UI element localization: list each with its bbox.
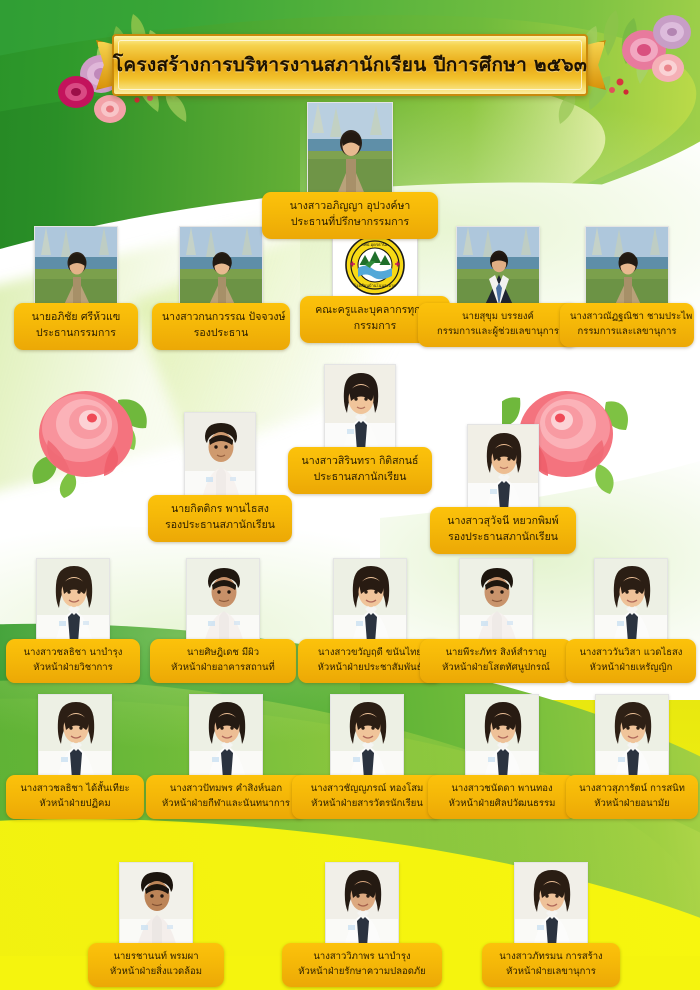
dept3-photo-3 xyxy=(514,862,588,946)
dept1-name-4: นายพีระภัทร สิงห์สำราญ xyxy=(430,646,562,660)
council-president-label: นางสาวสิรินทรา กิติสกนธ์ ประธานสภานักเรี… xyxy=(288,447,432,494)
dept1-role-3: หัวหน้าฝ่ายประชาสัมพันธ์ xyxy=(308,660,432,675)
council-vice-right-role: รองประธานสภานักเรียน xyxy=(440,529,566,546)
svg-text:โรงเรียนบ้านโนนสะอาด: โรงเรียนบ้านโนนสะอาด xyxy=(354,283,396,288)
node-dept2-3[interactable]: นางสาวชัญญูภรณ์ ทองโสม หัวหน้าฝ่ายสารวัต… xyxy=(292,694,442,819)
council-president-photo xyxy=(324,364,396,450)
committee-label-5: นางสาวณัฏฐณิชา ชามประไพ กรรมการและเลขานุ… xyxy=(560,303,694,347)
dept1-label-2: นายศิษฎิเดช มีผิว หัวหน้าฝ่ายอาคารสถานที… xyxy=(150,639,296,683)
dept3-label-3: นางสาวภัทรมน การสร้าง หัวหน้าฝ่ายเลขานุก… xyxy=(482,943,620,987)
committee-name-1: นายอภิชัย ศรีห้วแฃ xyxy=(24,310,128,325)
dept2-role-5: หัวหน้าฝ่ายอนามัย xyxy=(576,796,688,811)
dept1-photo-2 xyxy=(186,558,260,642)
committee-label-1: นายอภิชัย ศรีห้วแฃ ประธานกรรมการ xyxy=(14,303,138,350)
dept2-photo-2 xyxy=(189,694,263,778)
poster-title-banner: โครงสร้างการบริหารงานสภานักเรียน ปีการศึ… xyxy=(112,34,588,96)
node-committee-2[interactable]: นางสาวกนกวรรณ ปัจจวงษ์ รองประธาน xyxy=(152,226,290,350)
dept3-role-2: หัวหน้าฝ่ายรักษาความปลอดภัย xyxy=(292,964,432,979)
dept2-name-4: นางสาวชนัดดา พานทอง xyxy=(438,782,566,796)
dept1-role-1: หัวหน้าฝ่ายวิชาการ xyxy=(16,660,130,675)
committee-name-5: นางสาวณัฏฐณิชา ชามประไพ xyxy=(570,310,684,324)
dept2-name-2: นางสาวปัทมพร คำสิงห์นอก xyxy=(156,782,296,796)
council-vice-right-name: นางสาวสุวัจนี หยวกพิมพ์ xyxy=(440,514,566,529)
dept2-photo-1 xyxy=(38,694,112,778)
page-title: โครงสร้างการบริหารงานสภานักเรียน ปีการศึ… xyxy=(113,50,587,80)
dept1-name-1: นางสาวชลธิชา นาบำรุง xyxy=(16,646,130,660)
dept1-photo-1 xyxy=(36,558,110,642)
advisor-role: ประธานที่ปรึกษากรรมการ xyxy=(272,214,428,231)
dept3-name-3: นางสาวภัทรมน การสร้าง xyxy=(492,950,610,964)
dept3-name-1: นายรชานนท์ พรมผา xyxy=(98,950,214,964)
node-dept1-2[interactable]: นายศิษฎิเดช มีผิว หัวหน้าฝ่ายอาคารสถานที… xyxy=(150,558,296,683)
dept2-name-1: นางสาวชลธิชา ได้สั้นเทียะ xyxy=(16,782,134,796)
council-vice-left-role: รองประธานสภานักเรียน xyxy=(158,517,282,534)
node-committee-1[interactable]: นายอภิชัย ศรีห้วแฃ ประธานกรรมการ xyxy=(14,226,138,350)
council-vice-left-label: นายกิตติกร พานไธสง รองประธานสภานักเรียน xyxy=(148,495,292,542)
node-dept2-1[interactable]: นางสาวชลธิชา ได้สั้นเทียะ หัวหน้าฝ่ายปฏิ… xyxy=(6,694,144,819)
council-vice-left-name: นายกิตติกร พานไธสง xyxy=(158,502,282,517)
advisor-name: นางสาวอภิญญา อุปวงค์ษา xyxy=(272,199,428,214)
advisor-label: นางสาวอภิญญา อุปวงค์ษา ประธานที่ปรึกษากร… xyxy=(262,192,438,239)
dept2-role-2: หัวหน้าฝ่ายกีฬาและนันทนาการ xyxy=(156,796,296,811)
dept2-name-5: นางสาวสุภารัตน์ การสนิท xyxy=(576,782,688,796)
committee-photo-2 xyxy=(179,226,263,306)
dept1-photo-4 xyxy=(459,558,533,642)
dept1-photo-5 xyxy=(594,558,668,642)
dept1-photo-3 xyxy=(333,558,407,642)
committee-role-5: กรรมการและเลขานุการ xyxy=(570,324,684,339)
node-dept1-1[interactable]: นางสาวชลธิชา นาบำรุง หัวหน้าฝ่ายวิชาการ xyxy=(6,558,140,683)
advisor-photo xyxy=(307,102,393,196)
committee-role-4: กรรมการและผู้ช่วยเลขานุการ xyxy=(428,324,568,339)
dept3-label-2: นางสาววิภาพร นาบำรุง หัวหน้าฝ่ายรักษาควา… xyxy=(282,943,442,987)
dept3-name-2: นางสาววิภาพร นาบำรุง xyxy=(292,950,432,964)
organization-chart-poster: โครงสร้างการบริหารงานสภานักเรียน ปีการศึ… xyxy=(0,0,700,990)
committee-label-4: นายสุขุม บรรยงค์ กรรมการและผู้ช่วยเลขานุ… xyxy=(418,303,578,347)
dept1-label-5: นางสาววันวิสา แวดไธสง หัวหน้าฝ่ายเหรัญญิ… xyxy=(566,639,696,683)
dept2-photo-4 xyxy=(465,694,539,778)
node-dept3-3[interactable]: นางสาวภัทรมน การสร้าง หัวหน้าฝ่ายเลขานุก… xyxy=(482,862,620,987)
council-president-name: นางสาวสิรินทรา กิติสกนธ์ xyxy=(298,454,422,469)
council-vice-right-label: นางสาวสุวัจนี หยวกพิมพ์ รองประธานสภานักเ… xyxy=(430,507,576,554)
dept2-label-5: นางสาวสุภารัตน์ การสนิท หัวหน้าฝ่ายอนามั… xyxy=(566,775,698,819)
node-council-vice-right[interactable]: นางสาวสุวัจนี หยวกพิมพ์ รองประธานสภานักเ… xyxy=(430,424,576,554)
node-council-president[interactable]: นางสาวสิรินทรา กิติสกนธ์ ประธานสภานักเรี… xyxy=(288,364,432,494)
dept2-photo-5 xyxy=(595,694,669,778)
dept1-role-2: หัวหน้าฝ่ายอาคารสถานที่ xyxy=(160,660,286,675)
dept2-photo-3 xyxy=(330,694,404,778)
node-committee-4[interactable]: นายสุขุม บรรยงค์ กรรมการและผู้ช่วยเลขานุ… xyxy=(418,226,578,347)
node-dept3-2[interactable]: นางสาววิภาพร นาบำรุง หัวหน้าฝ่ายรักษาควา… xyxy=(282,862,442,987)
dept2-name-3: นางสาวชัญญูภรณ์ ทองโสม xyxy=(302,782,432,796)
committee-role-2: รองประธาน xyxy=(162,325,280,342)
dept2-label-3: นางสาวชัญญูภรณ์ ทองโสม หัวหน้าฝ่ายสารวัต… xyxy=(292,775,442,819)
node-dept3-1[interactable]: นายรชานนท์ พรมผา หัวหน้าฝ่ายสิ่งแวดล้อม xyxy=(88,862,224,987)
dept3-photo-1 xyxy=(119,862,193,946)
committee-photo-1 xyxy=(34,226,118,306)
council-president-role: ประธานสภานักเรียน xyxy=(298,469,422,486)
dept1-role-5: หัวหน้าฝ่ายเหรัญญิก xyxy=(576,660,686,675)
dept3-role-1: หัวหน้าฝ่ายสิ่งแวดล้อม xyxy=(98,964,214,979)
committee-photo-5 xyxy=(585,226,669,306)
dept3-role-3: หัวหน้าฝ่ายเลขานุการ xyxy=(492,964,610,979)
node-dept2-5[interactable]: นางสาวสุภารัตน์ การสนิท หัวหน้าฝ่ายอนามั… xyxy=(566,694,698,819)
dept2-label-2: นางสาวปัทมพร คำสิงห์นอก หัวหน้าฝ่ายกีฬาแ… xyxy=(146,775,306,819)
dept1-name-2: นายศิษฎิเดช มีผิว xyxy=(160,646,286,660)
dept2-role-4: หัวหน้าฝ่ายศิลปวัฒนธรรม xyxy=(438,796,566,811)
node-dept1-4[interactable]: นายพีระภัทร สิงห์สำราญ หัวหน้าฝ่ายโสตทัศ… xyxy=(420,558,572,683)
dept2-label-1: นางสาวชลธิชา ได้สั้นเทียะ หัวหน้าฝ่ายปฏิ… xyxy=(6,775,144,819)
committee-name-4: นายสุขุม บรรยงค์ xyxy=(428,310,568,324)
committee-photo-4 xyxy=(456,226,540,306)
committee-label-2: นางสาวกนกวรรณ ปัจจวงษ์ รองประธาน xyxy=(152,303,290,350)
dept1-label-1: นางสาวชลธิชา นาบำรุง หัวหน้าฝ่ายวิชาการ xyxy=(6,639,140,683)
dept1-name-5: นางสาววันวิสา แวดไธสง xyxy=(576,646,686,660)
council-vice-right-photo xyxy=(467,424,539,510)
node-committee-5[interactable]: นางสาวณัฏฐณิชา ชามประไพ กรรมการและเลขานุ… xyxy=(560,226,694,347)
committee-name-2: นางสาวกนกวรรณ ปัจจวงษ์ xyxy=(162,310,280,325)
dept3-photo-2 xyxy=(325,862,399,946)
node-dept2-2[interactable]: นางสาวปัทมพร คำสิงห์นอก หัวหน้าฝ่ายกีฬาแ… xyxy=(146,694,306,819)
school-logo-box: สพป.อุดรธานี๓ โรงเรียนบ้านโนนสะอาด xyxy=(332,232,418,298)
dept3-label-1: นายรชานนท์ พรมผา หัวหน้าฝ่ายสิ่งแวดล้อม xyxy=(88,943,224,987)
node-advisor[interactable]: นางสาวอภิญญา อุปวงค์ษา ประธานที่ปรึกษากร… xyxy=(262,102,438,239)
committee-role-1: ประธานกรรมการ xyxy=(24,325,128,342)
node-dept1-5[interactable]: นางสาววันวิสา แวดไธสง หัวหน้าฝ่ายเหรัญญิ… xyxy=(566,558,696,683)
school-logo-icon: สพป.อุดรธานี๓ โรงเรียนบ้านโนนสะอาด xyxy=(345,235,405,295)
dept2-role-1: หัวหน้าฝ่ายปฏิคม xyxy=(16,796,134,811)
dept1-label-4: นายพีระภัทร สิงห์สำราญ หัวหน้าฝ่ายโสตทัศ… xyxy=(420,639,572,683)
node-council-vice-left[interactable]: นายกิตติกร พานไธสง รองประธานสภานักเรียน xyxy=(148,412,292,542)
dept1-role-4: หัวหน้าฝ่ายโสตทัศนูปกรณ์ xyxy=(430,660,562,675)
node-dept2-4[interactable]: นางสาวชนัดดา พานทอง หัวหน้าฝ่ายศิลปวัฒนธ… xyxy=(428,694,576,819)
dept2-role-3: หัวหน้าฝ่ายสารวัตรนักเรียน xyxy=(302,796,432,811)
dept1-name-3: นางสาวขวัญฤดี ขนันไทย xyxy=(308,646,432,660)
dept2-label-4: นางสาวชนัดดา พานทอง หัวหน้าฝ่ายศิลปวัฒนธ… xyxy=(428,775,576,819)
council-vice-left-photo xyxy=(184,412,256,498)
